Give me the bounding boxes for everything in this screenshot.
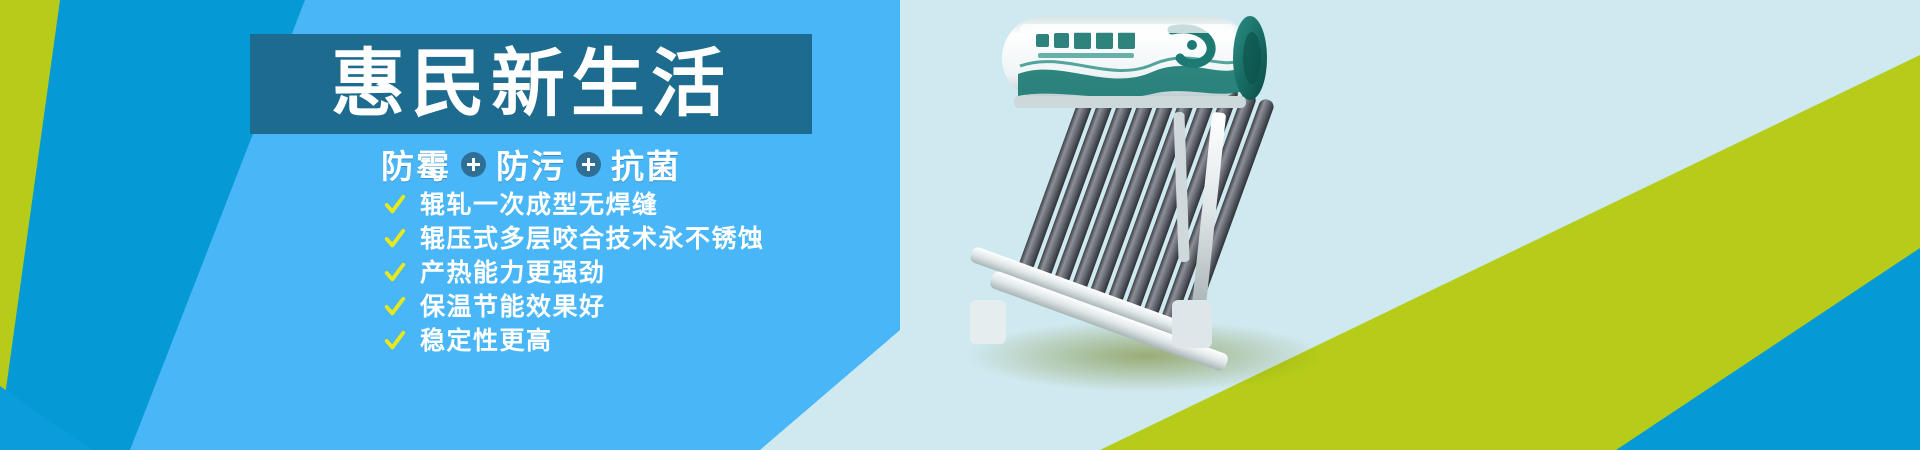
list-item-label: 稳定性更高 bbox=[420, 328, 553, 353]
water-tank bbox=[1002, 16, 1267, 100]
page-title: 惠民新生活 bbox=[250, 34, 812, 134]
check-icon bbox=[384, 262, 406, 284]
plus-badge-icon bbox=[576, 152, 601, 177]
check-icon bbox=[384, 228, 406, 250]
list-item: 保温节能效果好 bbox=[384, 294, 765, 319]
list-item: 辊轧一次成型无焊缝 bbox=[384, 192, 765, 217]
list-item: 辊压式多层咬合技术永不锈蚀 bbox=[384, 226, 765, 251]
list-item: 稳定性更高 bbox=[384, 328, 765, 353]
subtitle-word-3: 抗菌 bbox=[611, 140, 681, 188]
feature-list: 辊轧一次成型无焊缝 辊压式多层咬合技术永不锈蚀 产热能力更强劲 保温节能效果好 bbox=[384, 192, 765, 353]
subtitle-word-2: 防污 bbox=[496, 140, 566, 188]
list-item-label: 辊轧一次成型无焊缝 bbox=[420, 192, 659, 217]
subtitle-word-1: 防霉 bbox=[381, 140, 451, 188]
check-icon bbox=[384, 330, 406, 352]
list-item-label: 保温节能效果好 bbox=[420, 294, 606, 319]
tube-collars bbox=[1014, 96, 1246, 108]
product-image-solar-water-heater bbox=[940, 0, 1360, 450]
solar-water-heater-illustration bbox=[940, 0, 1360, 450]
plus-badge-icon bbox=[461, 152, 486, 177]
check-icon bbox=[384, 194, 406, 216]
promo-banner: 惠民新生活 防霉 防污 抗菌 辊轧一次成型无焊缝 辊压式多层咬合技术永不锈蚀 产… bbox=[0, 0, 1920, 450]
list-item-label: 产热能力更强劲 bbox=[420, 260, 606, 285]
check-icon bbox=[384, 296, 406, 318]
headline-band: 惠民新生活 bbox=[250, 34, 812, 134]
subtitle-row: 防霉 防污 抗菌 bbox=[250, 140, 812, 188]
list-item-label: 辊压式多层咬合技术永不锈蚀 bbox=[420, 226, 765, 251]
list-item: 产热能力更强劲 bbox=[384, 260, 765, 285]
